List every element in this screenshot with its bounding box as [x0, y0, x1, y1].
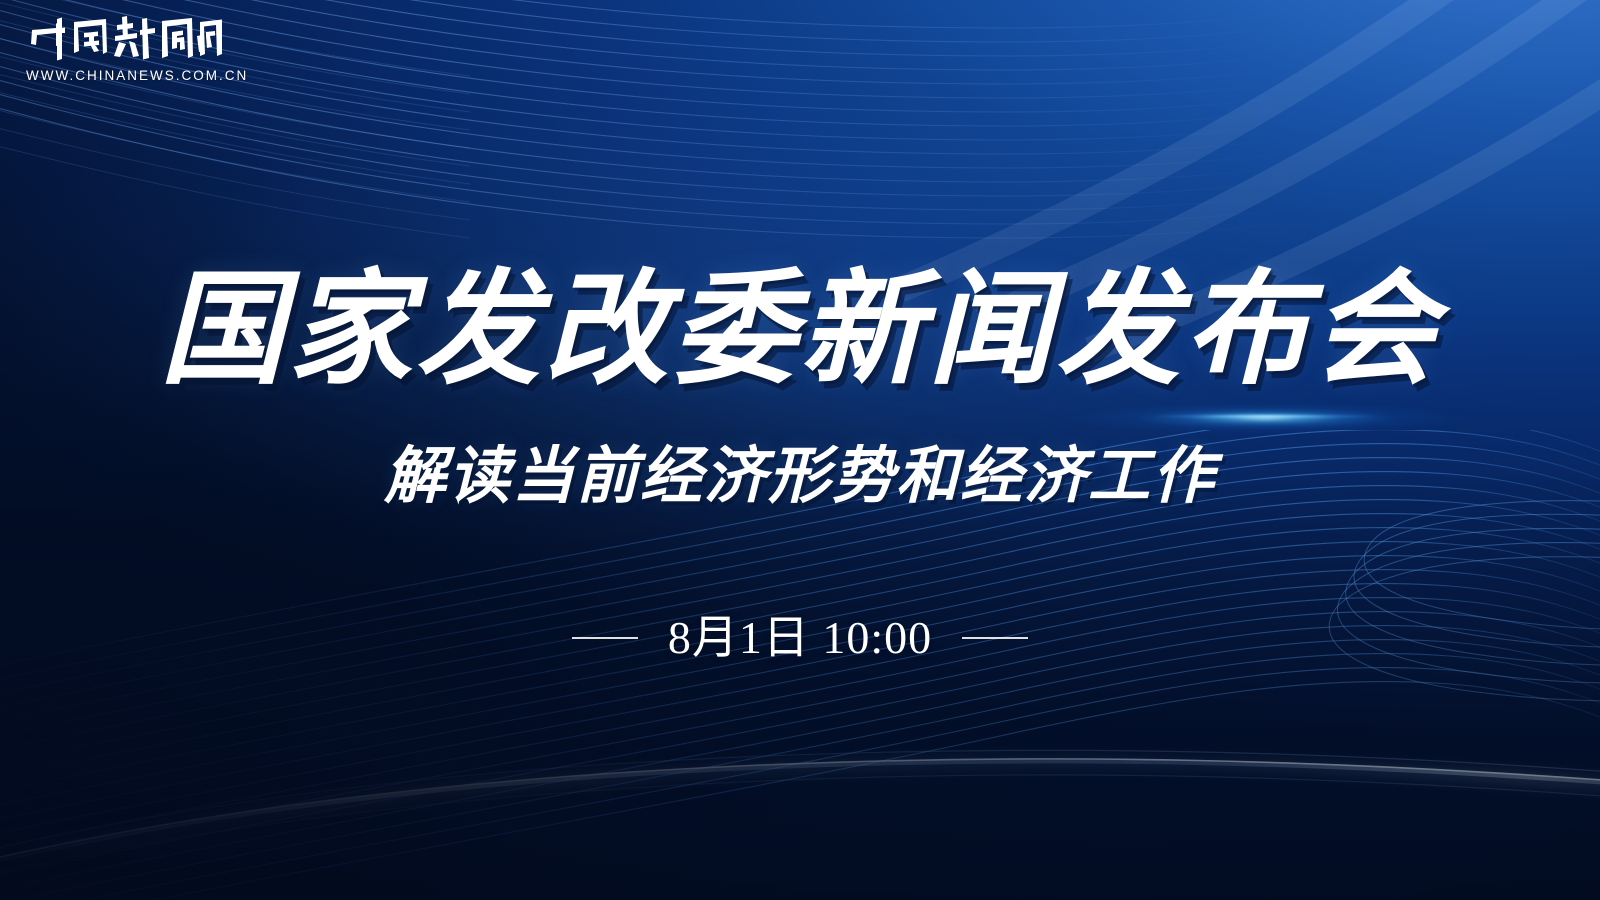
cyan-flare-core-icon — [1150, 414, 1380, 419]
page-title: 国家发改委新闻发布会 — [0, 268, 1600, 392]
schedule-datetime: 8月1日 10:00 — [668, 614, 932, 662]
page-subtitle: 解读当前经济形势和经济工作 — [0, 446, 1600, 508]
chinanews-logo-icon — [26, 10, 222, 64]
divider-rule-left — [572, 637, 638, 639]
logo-url-text: WWW.CHINANEWS.COM.CN — [26, 68, 256, 83]
chinanews-logo[interactable]: WWW.CHINANEWS.COM.CN — [26, 10, 256, 83]
schedule-row: 8月1日 10:00 — [0, 614, 1600, 662]
poster-canvas: WWW.CHINANEWS.COM.CN 国家发改委新闻发布会 解读当前经济形势… — [0, 0, 1600, 900]
divider-rule-right — [962, 637, 1028, 639]
